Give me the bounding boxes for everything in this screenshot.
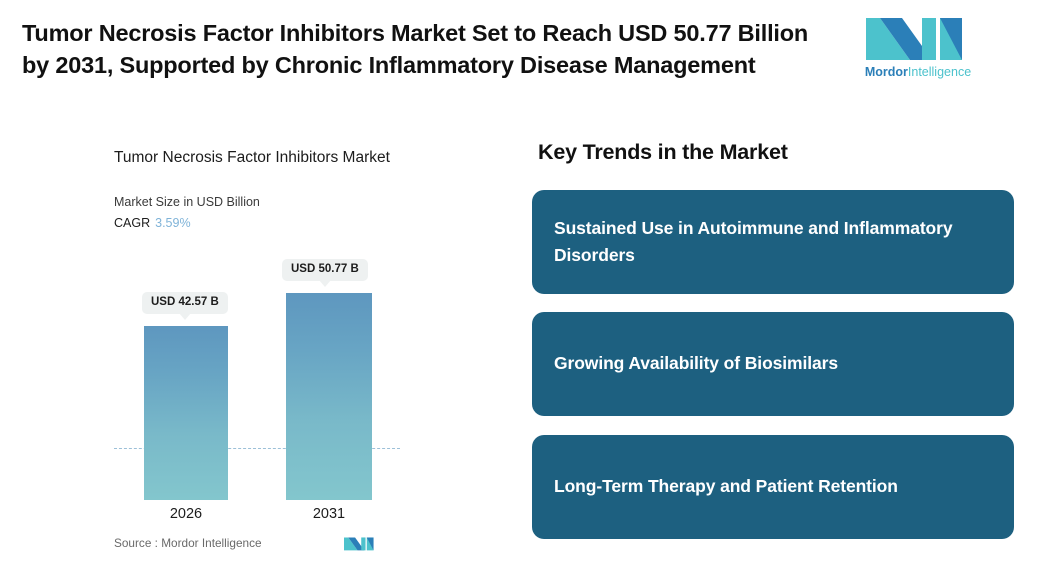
- source-label: Source : Mordor Intelligence: [114, 536, 262, 550]
- trend-card-3[interactable]: Long-Term Therapy and Patient Retention: [532, 435, 1014, 539]
- brand-word-secondary: Intelligence: [908, 65, 971, 79]
- x-tick-2031: 2031: [286, 506, 372, 522]
- trends-panel: Key Trends in the Market Sustained Use i…: [520, 120, 1042, 583]
- bar-chart-plot: USD 42.57 B USD 50.77 B 2026 2031: [114, 250, 414, 500]
- mordor-m-icon-small: [344, 534, 376, 552]
- chart-cagr: CAGR3.59%: [114, 216, 191, 230]
- trends-heading: Key Trends in the Market: [538, 140, 788, 165]
- x-tick-2026: 2026: [144, 506, 228, 522]
- chart-title: Tumor Necrosis Factor Inhibitors Market: [114, 148, 404, 169]
- data-label-2031: USD 50.77 B: [282, 259, 368, 281]
- chart-panel: Tumor Necrosis Factor Inhibitors Market …: [0, 120, 520, 583]
- page-title: Tumor Necrosis Factor Inhibitors Market …: [22, 18, 812, 82]
- infographic-page: Tumor Necrosis Factor Inhibitors Market …: [0, 0, 1042, 583]
- brand-word-primary: Mordor: [865, 65, 908, 79]
- mordor-m-icon: [866, 12, 970, 60]
- trend-card-2[interactable]: Growing Availability of Biosimilars: [532, 312, 1014, 416]
- data-label-2026: USD 42.57 B: [142, 292, 228, 314]
- header: Tumor Necrosis Factor Inhibitors Market …: [0, 0, 1042, 120]
- chart-subtitle: Market Size in USD Billion: [114, 195, 260, 209]
- brand-wordmark: MordorIntelligence: [858, 66, 978, 79]
- bar-2031: [286, 293, 372, 500]
- brand-logo: MordorIntelligence: [858, 12, 978, 84]
- trend-card-1[interactable]: Sustained Use in Autoimmune and Inflamma…: [532, 190, 1014, 294]
- trend-card-3-label: Long-Term Therapy and Patient Retention: [532, 473, 920, 500]
- trend-card-1-label: Sustained Use in Autoimmune and Inflamma…: [532, 215, 1014, 269]
- cagr-label: CAGR: [114, 216, 150, 230]
- source-row: Source : Mordor Intelligence: [114, 532, 414, 558]
- cagr-value: 3.59%: [155, 216, 190, 230]
- bar-2026: [144, 326, 228, 500]
- trend-card-2-label: Growing Availability of Biosimilars: [532, 350, 860, 377]
